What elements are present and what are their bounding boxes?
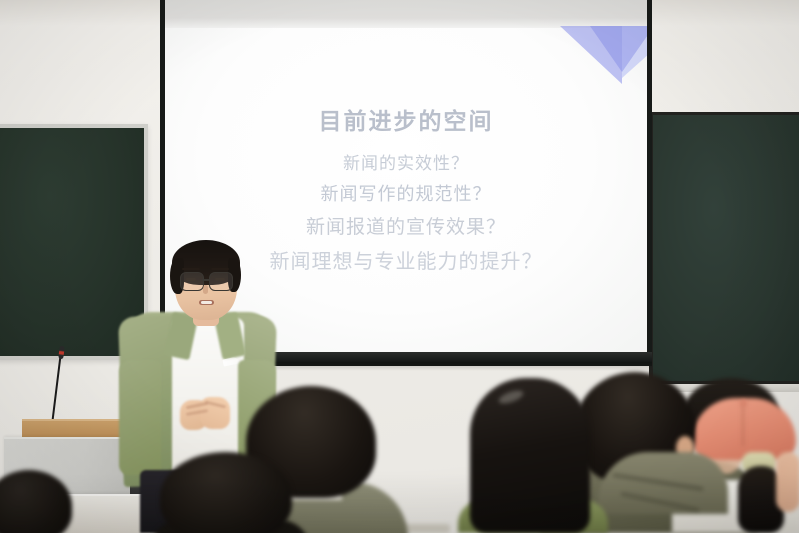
slide-content: 目前进步的空间 新闻的实效性？ 新闻写作的规范性？ 新闻报道的宣传效果？ 新闻理… xyxy=(165,0,647,354)
speaker-sleeve-left xyxy=(119,360,161,475)
glasses-icon-bridge xyxy=(202,279,209,281)
slide-line-3: 新闻报道的宣传效果？ xyxy=(306,212,506,239)
chalkboard-right-surface xyxy=(653,115,799,381)
classroom-photo: 目前进步的空间 新闻的实效性？ 新闻写作的规范性？ 新闻报道的宣传效果？ 新闻理… xyxy=(0,0,799,533)
audience-arm-right-edge xyxy=(776,452,799,512)
slide-line-1: 新闻的实效性？ xyxy=(343,149,469,174)
audience-student-left-front-head xyxy=(160,452,292,533)
slide-line-2: 新闻写作的规范性？ xyxy=(321,180,492,206)
slide-title: 目前进步的空间 xyxy=(319,102,494,136)
audience-student-peach-cap xyxy=(692,398,796,460)
speaker-teeth xyxy=(201,301,212,304)
projection-screen: 目前进步的空间 新闻的实效性？ 新闻写作的规范性？ 新闻报道的宣传效果？ 新闻理… xyxy=(165,0,647,354)
chalkboard-right xyxy=(649,112,799,384)
speaker-nose xyxy=(203,285,208,294)
glasses-icon-left-lens xyxy=(180,272,204,291)
slide-line-4: 新闻理想与专业能力的提升？ xyxy=(270,245,543,274)
glasses-icon-right-lens xyxy=(209,272,233,291)
audience-student-long-hair-head xyxy=(470,378,590,533)
cap-button-icon xyxy=(740,400,747,407)
